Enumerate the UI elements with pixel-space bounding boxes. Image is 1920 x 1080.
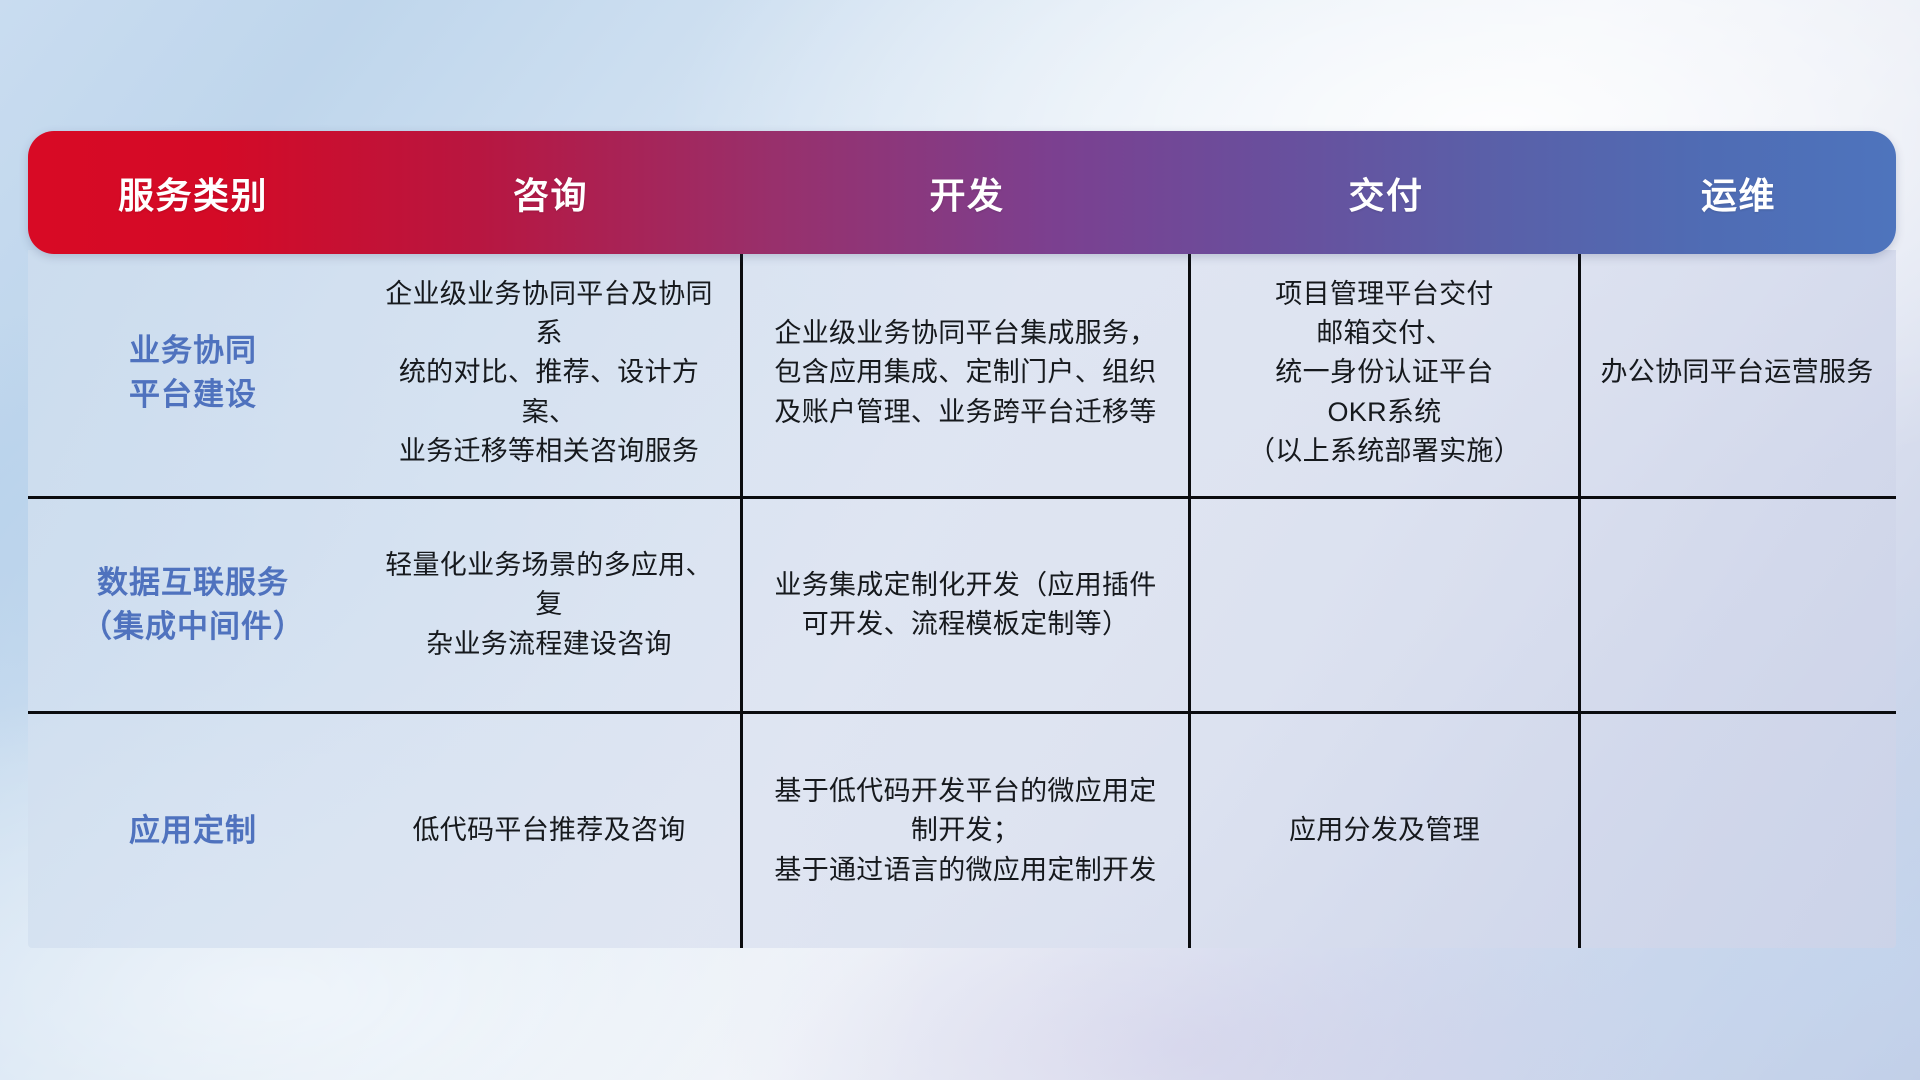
header-cell-service-category: 服务类别 [28, 167, 358, 219]
table-row: 业务协同 平台建设 企业级业务协同平台及协同系 统的对比、推荐、设计方案、 业务… [28, 250, 1896, 496]
cell-development: 业务集成定制化开发（应用插件 可开发、流程模板定制等） [743, 499, 1191, 711]
cell-text: 企业级业务协同平台集成服务， 包含应用集成、定制门户、组织 及账户管理、业务跨平… [774, 314, 1156, 431]
row-label-text: 应用定制 [129, 809, 257, 853]
cell-consulting: 轻量化业务场景的多应用、复 杂业务流程建设咨询 [358, 499, 743, 711]
cell-delivery: 项目管理平台交付 邮箱交付、 统一身份认证平台 OKR系统 （以上系统部署实施） [1191, 250, 1581, 496]
service-matrix-table: 服务类别 咨询 开发 交付 运维 业务协同 平台建设 企业级业务协同平台及协同系… [28, 131, 1896, 948]
cell-text: 办公协同平台运营服务 [1601, 353, 1874, 392]
row-label-text: 业务协同 平台建设 [129, 329, 257, 417]
header-cell-operations: 运维 [1581, 167, 1896, 219]
cell-development: 基于低代码开发平台的微应用定 制开发； 基于通过语言的微应用定制开发 [743, 714, 1191, 948]
table-body: 业务协同 平台建设 企业级业务协同平台及协同系 统的对比、推荐、设计方案、 业务… [28, 250, 1896, 948]
cell-consulting: 企业级业务协同平台及协同系 统的对比、推荐、设计方案、 业务迁移等相关咨询服务 [358, 250, 743, 496]
cell-operations: 办公协同平台运营服务 [1581, 250, 1893, 496]
cell-text: 业务集成定制化开发（应用插件 可开发、流程模板定制等） [774, 566, 1156, 644]
table-row: 应用定制 低代码平台推荐及咨询 基于低代码开发平台的微应用定 制开发； 基于通过… [28, 711, 1896, 948]
header-cell-consulting: 咨询 [358, 167, 743, 219]
cell-operations [1581, 499, 1893, 711]
cell-text: 项目管理平台交付 邮箱交付、 统一身份认证平台 OKR系统 （以上系统部署实施） [1248, 275, 1521, 471]
row-label-cell: 数据互联服务 （集成中间件） [28, 499, 358, 711]
cell-text: 基于低代码开发平台的微应用定 制开发； 基于通过语言的微应用定制开发 [774, 772, 1156, 889]
cell-development: 企业级业务协同平台集成服务， 包含应用集成、定制门户、组织 及账户管理、业务跨平… [743, 250, 1191, 496]
cell-delivery [1191, 499, 1581, 711]
table-row: 数据互联服务 （集成中间件） 轻量化业务场景的多应用、复 杂业务流程建设咨询 业… [28, 496, 1896, 711]
header-cell-development: 开发 [743, 167, 1191, 219]
cell-operations [1581, 714, 1893, 948]
header-cell-delivery: 交付 [1191, 167, 1581, 219]
cell-text: 企业级业务协同平台及协同系 统的对比、推荐、设计方案、 业务迁移等相关咨询服务 [372, 275, 726, 471]
cell-text: 轻量化业务场景的多应用、复 杂业务流程建设咨询 [372, 546, 726, 663]
row-label-cell: 业务协同 平台建设 [28, 250, 358, 496]
cell-text: 低代码平台推荐及咨询 [413, 811, 686, 850]
cell-delivery: 应用分发及管理 [1191, 714, 1581, 948]
cell-consulting: 低代码平台推荐及咨询 [358, 714, 743, 948]
cell-text: 应用分发及管理 [1289, 811, 1480, 850]
row-label-cell: 应用定制 [28, 714, 358, 948]
row-label-text: 数据互联服务 （集成中间件） [81, 561, 305, 649]
table-header-row: 服务类别 咨询 开发 交付 运维 [28, 131, 1896, 254]
